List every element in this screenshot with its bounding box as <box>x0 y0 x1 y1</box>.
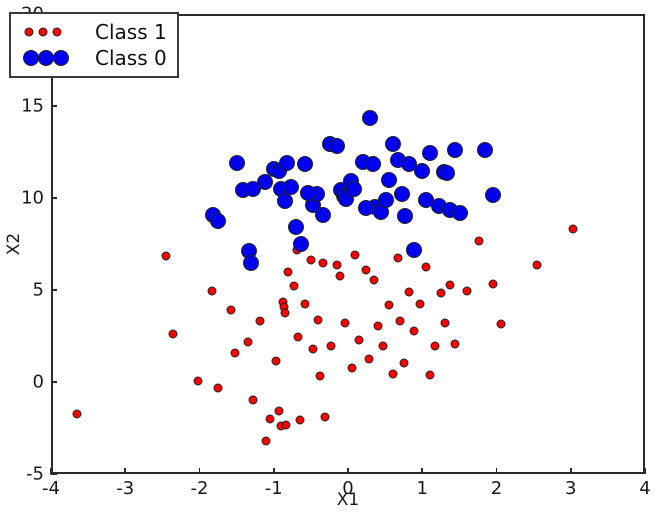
data-point <box>463 287 472 296</box>
data-point <box>351 250 360 259</box>
data-point <box>306 256 315 265</box>
data-point <box>213 384 222 393</box>
y-axis-label: X2 <box>4 233 24 255</box>
data-point <box>230 349 239 358</box>
x-tick-label: -3 <box>116 478 134 499</box>
data-point <box>374 321 383 330</box>
data-point <box>365 156 381 172</box>
data-point <box>477 142 493 158</box>
data-point <box>451 340 460 349</box>
data-point <box>340 318 349 327</box>
data-point <box>452 205 468 221</box>
data-point <box>400 358 409 367</box>
data-point <box>401 156 417 172</box>
data-point <box>394 186 410 202</box>
data-point <box>193 377 202 386</box>
data-point <box>245 181 261 197</box>
data-point <box>297 156 313 172</box>
data-point <box>406 242 422 258</box>
y-tick-mark <box>51 381 57 383</box>
data-point <box>409 326 418 335</box>
data-point <box>447 142 463 158</box>
data-point <box>289 282 298 291</box>
data-point <box>256 317 265 326</box>
data-point <box>369 276 378 285</box>
data-point <box>395 316 404 325</box>
data-point <box>316 371 325 380</box>
legend-item-class-1[interactable]: Class 1 <box>19 19 167 45</box>
data-point <box>282 421 291 430</box>
legend-item-class-0[interactable]: Class 0 <box>19 45 167 71</box>
plot-axes <box>51 14 645 474</box>
x-tick-label: 3 <box>565 478 576 499</box>
scatter-plot-figure: -4-3-2-101234 -505101520 X1 X2 Class 1 C… <box>0 0 668 518</box>
x-tick-label: -2 <box>191 478 209 499</box>
y-tick-mark <box>51 473 57 475</box>
data-point <box>329 138 345 154</box>
data-point <box>284 267 293 276</box>
data-point <box>275 407 284 416</box>
data-point <box>497 319 506 328</box>
x-tick-label: 1 <box>417 478 428 499</box>
data-point <box>262 437 271 446</box>
data-point <box>249 396 258 405</box>
data-point <box>389 370 398 379</box>
y-tick-mark <box>51 105 57 107</box>
data-point <box>314 315 323 324</box>
data-point <box>210 213 226 229</box>
x-tick-mark <box>496 468 498 474</box>
data-point <box>475 236 484 245</box>
legend-marker-dot <box>25 28 34 37</box>
data-point <box>415 299 424 308</box>
data-point <box>72 409 81 418</box>
data-point <box>436 288 445 297</box>
y-tick-label: 5 <box>33 280 44 301</box>
y-tick-label: 10 <box>21 188 44 209</box>
x-tick-mark <box>570 468 572 474</box>
x-tick-mark <box>421 468 423 474</box>
data-point <box>293 236 309 252</box>
data-point <box>439 165 455 181</box>
y-tick-label: 15 <box>21 96 44 117</box>
legend-label-class-1: Class 1 <box>95 22 167 42</box>
legend-label-class-0: Class 0 <box>95 48 167 68</box>
legend-marker-dot <box>38 50 54 66</box>
data-point <box>426 370 435 379</box>
legend-marker-dot <box>53 28 62 37</box>
data-point <box>272 357 281 366</box>
x-tick-mark <box>347 468 349 474</box>
x-tick-label: 4 <box>639 478 650 499</box>
legend-marker-dot <box>39 28 48 37</box>
data-point <box>265 414 274 423</box>
legend-marker-dot <box>23 50 39 66</box>
data-point <box>288 219 304 235</box>
legend[interactable]: Class 1 Class 0 <box>9 12 179 78</box>
data-point <box>385 301 394 310</box>
data-point <box>358 200 374 216</box>
data-point <box>362 110 378 126</box>
data-point <box>379 341 388 350</box>
plot-data-area <box>53 16 643 472</box>
data-point <box>308 345 317 354</box>
data-point <box>277 193 293 209</box>
data-point <box>227 305 236 314</box>
x-tick-label: 2 <box>491 478 502 499</box>
data-point <box>318 259 327 268</box>
x-tick-label: -1 <box>265 478 283 499</box>
data-point <box>404 288 413 297</box>
data-point <box>393 254 402 263</box>
data-point <box>336 271 345 280</box>
data-point <box>321 412 330 421</box>
data-point <box>243 255 259 271</box>
y-tick-label: -5 <box>26 464 44 485</box>
data-point <box>489 280 498 289</box>
x-tick-mark <box>644 468 646 474</box>
data-point <box>315 207 331 223</box>
data-point <box>326 341 335 350</box>
y-tick-mark <box>51 289 57 291</box>
x-tick-mark <box>199 468 201 474</box>
data-point <box>385 136 401 152</box>
data-point <box>283 179 299 195</box>
data-point <box>161 252 170 261</box>
data-point <box>229 155 245 171</box>
x-tick-mark <box>273 468 275 474</box>
x-tick-label: -4 <box>42 478 60 499</box>
data-point <box>381 172 397 188</box>
data-point <box>168 329 177 338</box>
data-point <box>354 335 363 344</box>
data-point <box>244 338 253 347</box>
data-point <box>279 155 295 171</box>
data-point <box>422 262 431 271</box>
data-point <box>332 260 341 269</box>
data-point <box>348 363 357 372</box>
x-axis-label: X1 <box>337 490 359 510</box>
data-point <box>378 192 394 208</box>
data-point <box>207 287 216 296</box>
data-point <box>485 187 501 203</box>
y-tick-label: 0 <box>33 372 44 393</box>
legend-marker-dot <box>53 50 69 66</box>
x-tick-mark <box>124 468 126 474</box>
data-point <box>533 260 542 269</box>
data-point <box>430 342 439 351</box>
data-point <box>346 181 362 197</box>
data-point <box>397 208 413 224</box>
data-point <box>295 415 304 424</box>
data-point <box>362 265 371 274</box>
data-point <box>422 145 438 161</box>
legend-marker-class-0 <box>19 47 81 69</box>
legend-marker-class-1 <box>19 21 81 43</box>
data-point <box>568 225 577 234</box>
data-point <box>446 280 455 289</box>
data-point <box>280 308 289 317</box>
data-point <box>364 355 373 364</box>
data-point <box>294 333 303 342</box>
y-tick-mark <box>51 197 57 199</box>
data-point <box>300 299 309 308</box>
data-point <box>300 185 316 201</box>
data-point <box>441 318 450 327</box>
